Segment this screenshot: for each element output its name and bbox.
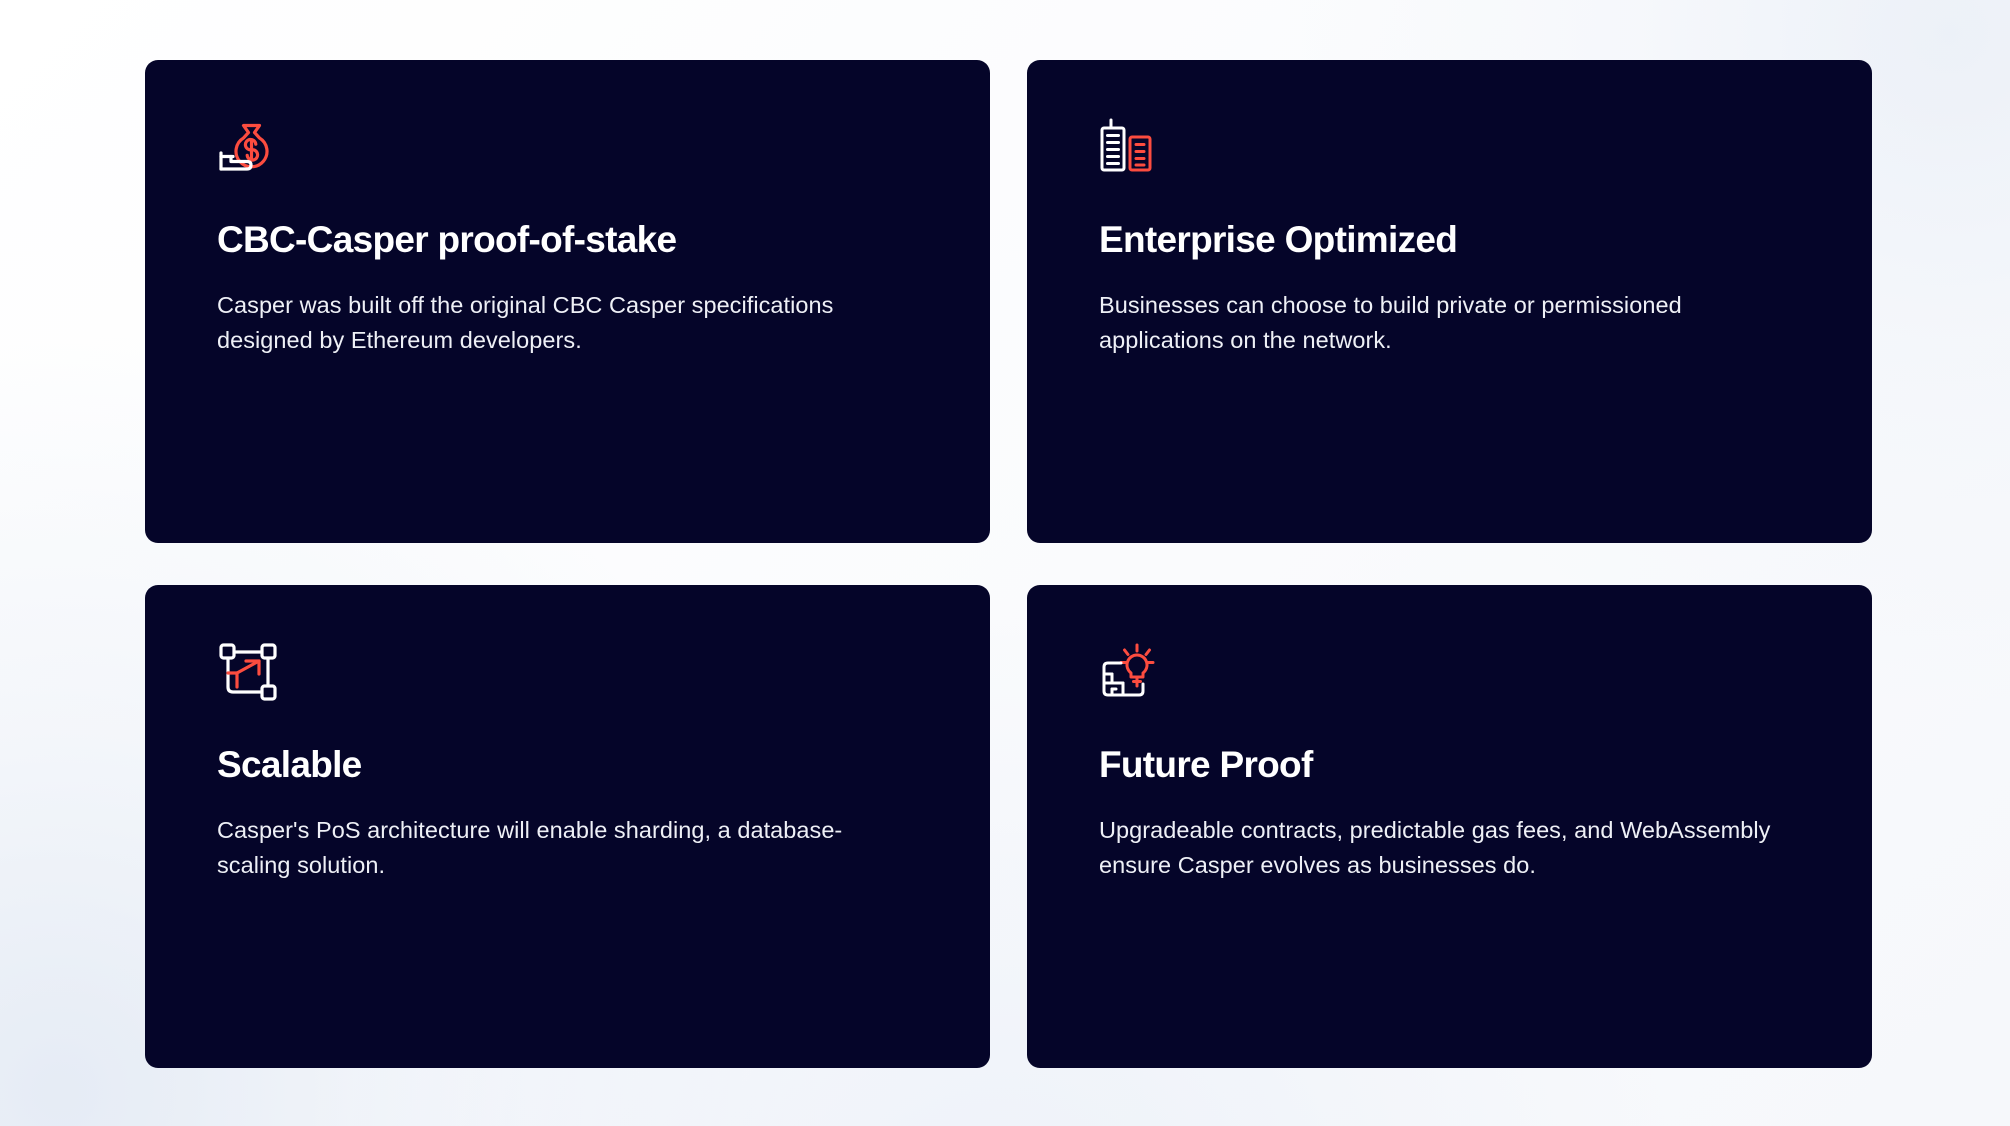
feature-card-title: Scalable [217,743,918,787]
feature-card-title: Enterprise Optimized [1099,218,1800,262]
feature-card-enterprise-optimized[interactable]: Enterprise Optimized Businesses can choo… [1027,60,1872,543]
feature-card-title: Future Proof [1099,743,1800,787]
feature-card-body: Casper was built off the original CBC Ca… [217,288,857,359]
feature-card-future-proof[interactable]: Future Proof Upgradeable contracts, pred… [1027,585,1872,1068]
scale-arrow-icon [217,641,918,703]
feature-card-body: Upgradeable contracts, predictable gas f… [1099,813,1799,884]
feature-card-scalable[interactable]: Scalable Casper's PoS architecture will … [145,585,990,1068]
money-bag-icon [217,116,918,178]
office-buildings-icon [1099,116,1800,178]
lightbulb-circuit-icon [1099,641,1800,703]
feature-card-grid: CBC-Casper proof-of-stake Casper was bui… [145,60,1872,1068]
feature-card-title: CBC-Casper proof-of-stake [217,218,918,262]
feature-card-body: Businesses can choose to build private o… [1099,288,1799,359]
feature-card-cbc-casper[interactable]: CBC-Casper proof-of-stake Casper was bui… [145,60,990,543]
feature-card-body: Casper's PoS architecture will enable sh… [217,813,857,884]
